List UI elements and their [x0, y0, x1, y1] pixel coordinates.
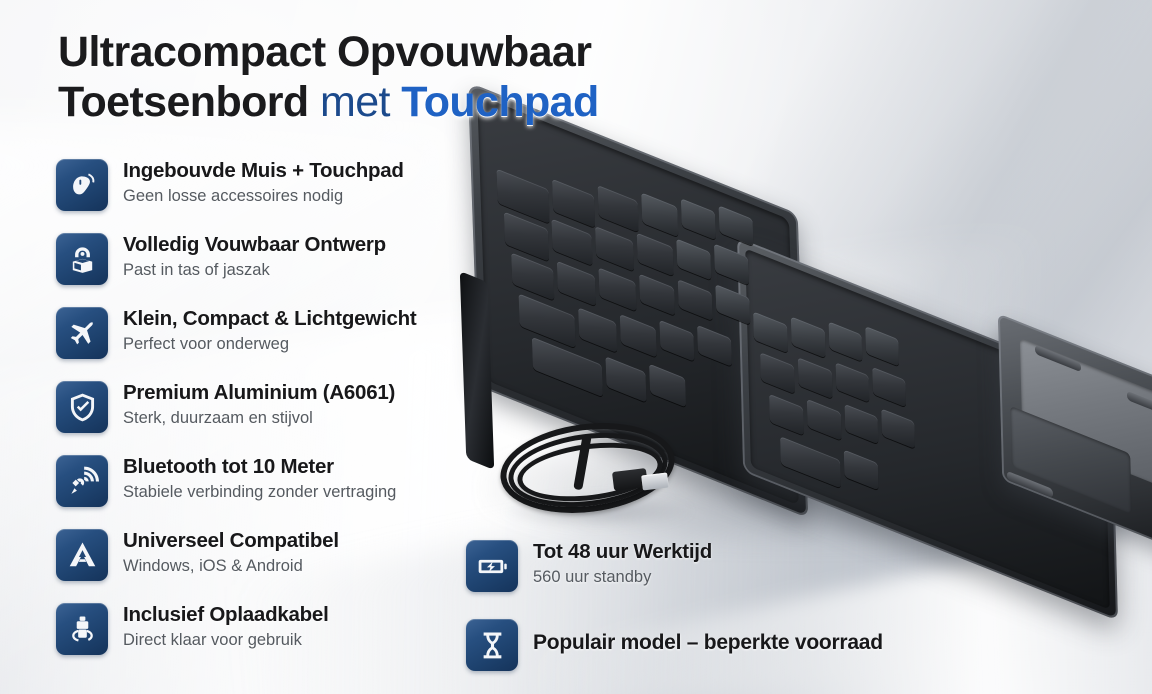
feature-subtitle: 560 uur standby — [533, 567, 712, 588]
headline-line-2: Toetsenbord met Touchpad — [58, 77, 778, 127]
keyboard-drop-shadow — [485, 428, 1105, 548]
feature-item-bluetooth-range: Bluetooth tot 10 Meter Stabiele verbindi… — [56, 455, 486, 512]
cable-loop-inner — [514, 435, 666, 508]
product-infographic-banner: Ultracompact Opvouwbaar Toetsenbord met … — [0, 0, 1152, 694]
feature-title: Bluetooth tot 10 Meter — [123, 456, 396, 479]
mouse-icon — [56, 159, 108, 211]
compatibility-icon — [56, 529, 108, 581]
headline-line-1: Ultracompact Opvouwbaar — [58, 27, 778, 77]
feature-item-limited-stock: Populair model – beperkte voorraad — [466, 619, 1066, 676]
feature-title: Universeel Compatibel — [123, 530, 339, 553]
touchpad-plate — [998, 313, 1152, 551]
feature-item-charging-cable-included: Inclusief Oplaadkabel Direct klaar voor … — [56, 603, 486, 660]
keyboard-hinge-bottom — [1007, 471, 1053, 498]
satellite-signal-icon — [56, 455, 108, 507]
feature-item-premium-aluminium: Premium Aluminium (A6061) Sterk, duurzaa… — [56, 381, 486, 438]
feature-text: Inclusief Oplaadkabel Direct klaar voor … — [123, 603, 329, 651]
keyboard-hinge-right — [1127, 391, 1152, 418]
feature-subtitle: Past in tas of jaszak — [123, 260, 386, 281]
usb-plug-housing — [612, 468, 648, 491]
feature-subtitle: Stabiele verbinding zonder vertraging — [123, 482, 396, 503]
usb-charging-cable — [500, 418, 685, 528]
headline-keyword-touchpad: Touchpad — [401, 78, 598, 126]
usb-plug-metal-tip — [641, 472, 669, 490]
feature-title: Klein, Compact & Lichtgewicht — [123, 308, 416, 331]
feature-text: Populair model – beperkte voorraad — [533, 619, 883, 655]
feature-item-universal-compatible: Universeel Compatibel Windows, iOS & And… — [56, 529, 486, 586]
keyboard-keys-left-cluster — [491, 114, 790, 486]
airplane-icon — [56, 307, 108, 359]
feature-item-compact-lightweight: Klein, Compact & Lichtgewicht Perfect vo… — [56, 307, 486, 364]
feature-text: Volledig Vouwbaar Ontwerp Past in tas of… — [123, 233, 386, 281]
page-title: Ultracompact Opvouwbaar Toetsenbord met … — [58, 27, 778, 128]
folding-box-icon — [56, 233, 108, 285]
feature-text: Universeel Compatibel Windows, iOS & And… — [123, 529, 339, 577]
keyboard-keys-right-cluster — [753, 289, 973, 567]
hourglass-icon — [466, 619, 518, 671]
keyboard-hinge-top — [1035, 345, 1081, 372]
feature-title: Inclusief Oplaadkabel — [123, 604, 329, 627]
feature-item-mouse-touchpad: Ingebouvde Muis + Touchpad Geen losse ac… — [56, 159, 486, 216]
feature-subtitle: Perfect voor onderweg — [123, 334, 416, 355]
feature-title: Ingebouvde Muis + Touchpad — [123, 160, 404, 183]
touchpad-click-button — [1010, 406, 1132, 514]
charging-cable-icon — [56, 603, 108, 655]
feature-title: Tot 48 uur Werktijd — [533, 541, 712, 564]
cable-tie — [573, 434, 592, 491]
headline-word-met: met — [320, 78, 390, 126]
product-image-foldable-keyboard — [455, 128, 1145, 578]
feature-list-main: Ingebouvde Muis + Touchpad Geen losse ac… — [56, 159, 486, 677]
cable-loop-middle — [504, 425, 672, 516]
battery-bolt-icon — [466, 540, 518, 592]
feature-text: Ingebouvde Muis + Touchpad Geen losse ac… — [123, 159, 404, 207]
feature-text: Premium Aluminium (A6061) Sterk, duurzaa… — [123, 381, 395, 429]
keyboard-left-fold-panel — [468, 82, 808, 518]
feature-title: Premium Aluminium (A6061) — [123, 382, 395, 405]
feature-item-foldable-design: Volledig Vouwbaar Ontwerp Past in tas of… — [56, 233, 486, 290]
feature-text: Bluetooth tot 10 Meter Stabiele verbindi… — [123, 455, 396, 503]
feature-subtitle: Sterk, duurzaam en stijvol — [123, 408, 395, 429]
cable-loop-outer — [495, 414, 679, 523]
feature-subtitle: Geen losse accessoires nodig — [123, 186, 404, 207]
feature-subtitle: Windows, iOS & Android — [123, 556, 339, 577]
touchpad-surface — [1020, 338, 1152, 486]
headline-keyword-keyboard: Toetsenbord — [58, 78, 309, 126]
shield-check-icon — [56, 381, 108, 433]
cable-drop-shadow — [503, 494, 693, 528]
feature-item-battery-runtime: Tot 48 uur Werktijd 560 uur standby — [466, 540, 1066, 597]
feature-subtitle: Direct klaar voor gebruik — [123, 630, 329, 651]
feature-text: Tot 48 uur Werktijd 560 uur standby — [533, 540, 712, 588]
feature-title: Volledig Vouwbaar Ontwerp — [123, 234, 386, 257]
feature-text: Klein, Compact & Lichtgewicht Perfect vo… — [123, 307, 416, 355]
feature-title: Populair model – beperkte voorraad — [533, 631, 883, 655]
feature-list-side: Tot 48 uur Werktijd 560 uur standby Popu… — [466, 540, 1066, 694]
